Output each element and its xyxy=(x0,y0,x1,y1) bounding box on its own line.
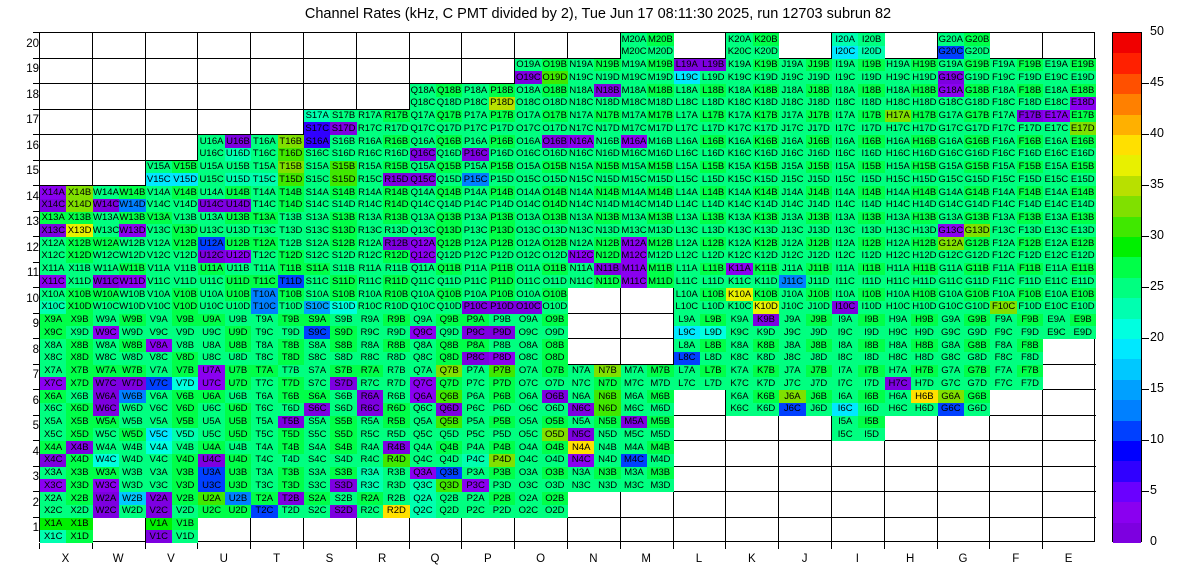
channel-cell[interactable]: H18B xyxy=(911,84,937,97)
channel-cell[interactable]: S15B xyxy=(330,161,356,174)
grid-cell[interactable]: I19AI19BI19CI19D xyxy=(832,59,885,85)
channel-cell[interactable]: Q17C xyxy=(410,122,436,135)
grid-cell[interactable] xyxy=(779,492,832,518)
channel-cell[interactable]: O15B xyxy=(542,161,568,174)
channel-cell[interactable]: J7C xyxy=(779,377,805,390)
grid-cell[interactable]: Q4AQ4BQ4CQ4D xyxy=(410,441,463,467)
channel-cell[interactable]: I12D xyxy=(858,250,884,263)
channel-cell[interactable]: U3B xyxy=(225,467,251,480)
channel-cell[interactable]: V5D xyxy=(172,428,198,441)
grid-cell[interactable]: V2AV2BV2CV2D xyxy=(146,492,199,518)
channel-cell[interactable]: J16A xyxy=(779,135,805,148)
channel-cell[interactable]: V15C xyxy=(146,173,172,186)
channel-cell[interactable]: I20D xyxy=(858,46,884,59)
channel-cell[interactable]: X2B xyxy=(66,492,92,505)
grid-cell[interactable] xyxy=(304,33,357,59)
channel-cell[interactable]: N14C xyxy=(568,199,594,212)
channel-cell[interactable]: O16D xyxy=(542,148,568,161)
channel-cell[interactable]: E17A xyxy=(1043,110,1069,123)
grid-cell[interactable]: W7AW7BW7CW7D xyxy=(93,365,146,391)
channel-cell[interactable]: E10A xyxy=(1043,288,1069,301)
grid-cell[interactable]: E18AE18BE18CE18D xyxy=(1043,84,1096,110)
channel-cell[interactable]: V8A xyxy=(146,339,172,352)
channel-cell[interactable]: L17B xyxy=(700,110,726,123)
channel-cell[interactable]: O2D xyxy=(542,505,568,518)
channel-cell[interactable]: T14D xyxy=(278,199,304,212)
grid-cell[interactable]: P14AP14BP14CP14D xyxy=(462,186,515,212)
channel-cell[interactable]: M19D xyxy=(647,71,673,84)
channel-cell[interactable]: U2B xyxy=(225,492,251,505)
grid-cell[interactable]: W10AW10BW10CW10D xyxy=(93,288,146,314)
channel-cell[interactable]: S11B xyxy=(330,263,356,276)
channel-cell[interactable]: N7C xyxy=(568,377,594,390)
channel-cell[interactable]: L17D xyxy=(700,122,726,135)
channel-cell[interactable]: I15B xyxy=(858,161,884,174)
channel-cell[interactable]: V7C xyxy=(146,377,172,390)
grid-cell[interactable] xyxy=(251,33,304,59)
grid-cell[interactable]: M7AM7BM7CM7D xyxy=(621,365,674,391)
channel-cell[interactable]: K18D xyxy=(753,97,779,110)
channel-cell[interactable]: F19D xyxy=(1017,71,1043,84)
channel-cell[interactable]: K9C xyxy=(726,326,752,339)
channel-cell[interactable]: J11A xyxy=(779,263,805,276)
channel-cell[interactable]: S5A xyxy=(304,416,330,429)
channel-cell[interactable]: N14B xyxy=(594,186,620,199)
grid-cell[interactable]: V10AV10BV10CV10D xyxy=(146,288,199,314)
channel-cell[interactable]: W7C xyxy=(93,377,119,390)
channel-cell[interactable]: O15D xyxy=(542,173,568,186)
grid-cell[interactable]: P8AP8BP8CP8D xyxy=(462,339,515,365)
channel-cell[interactable]: F17B xyxy=(1017,110,1043,123)
channel-cell[interactable]: S2C xyxy=(304,505,330,518)
grid-cell[interactable]: M17AM17BM17CM17D xyxy=(621,110,674,136)
grid-cell[interactable] xyxy=(304,84,357,110)
grid-cell[interactable]: F9AF9BF9CF9D xyxy=(990,314,1043,340)
grid-cell[interactable]: R14AR14BR14CR14D xyxy=(357,186,410,212)
channel-cell[interactable]: P9A xyxy=(462,314,488,327)
channel-cell[interactable]: V5C xyxy=(146,428,172,441)
channel-cell[interactable]: F13B xyxy=(1017,212,1043,225)
grid-cell[interactable] xyxy=(832,518,885,544)
grid-cell[interactable]: Q13AQ13BQ13CQ13D xyxy=(410,212,463,238)
channel-cell[interactable]: V10A xyxy=(146,288,172,301)
channel-cell[interactable]: V12B xyxy=(172,237,198,250)
grid-cell[interactable] xyxy=(198,84,251,110)
grid-cell[interactable]: P12AP12BP12CP12D xyxy=(462,237,515,263)
channel-cell[interactable]: T2C xyxy=(251,505,277,518)
channel-cell[interactable]: P13B xyxy=(489,212,515,225)
channel-cell[interactable]: F12B xyxy=(1017,237,1043,250)
channel-cell[interactable]: N12A xyxy=(568,237,594,250)
channel-cell[interactable]: G7B xyxy=(964,365,990,378)
grid-cell[interactable]: I15AI15BI15CI15D xyxy=(832,161,885,187)
grid-cell[interactable]: I12AI12BI12CI12D xyxy=(832,237,885,263)
channel-cell[interactable]: G8C xyxy=(938,352,964,365)
channel-cell[interactable]: Q16C xyxy=(410,148,436,161)
channel-cell[interactable]: I11A xyxy=(832,263,858,276)
channel-cell[interactable]: F16B xyxy=(1017,135,1043,148)
channel-cell[interactable]: G11D xyxy=(964,275,990,288)
channel-cell[interactable]: U15B xyxy=(225,161,251,174)
grid-cell[interactable]: N16AN16BN16CN16D xyxy=(568,135,621,161)
channel-cell[interactable]: G15D xyxy=(964,173,990,186)
channel-cell[interactable]: G20C xyxy=(938,46,964,59)
channel-cell[interactable]: R10C xyxy=(357,301,383,314)
grid-cell[interactable]: V8AV8BV8CV8D xyxy=(146,339,199,365)
grid-cell[interactable]: O5AO5BO5CO5D xyxy=(515,416,568,442)
channel-cell[interactable]: S11D xyxy=(330,275,356,288)
channel-cell[interactable]: E15A xyxy=(1043,161,1069,174)
channel-cell[interactable]: T2A xyxy=(251,492,277,505)
channel-cell[interactable]: N15B xyxy=(594,161,620,174)
channel-cell[interactable]: T5A xyxy=(251,416,277,429)
channel-cell[interactable]: L17A xyxy=(674,110,700,123)
channel-cell[interactable]: R8B xyxy=(383,339,409,352)
channel-cell[interactable]: G16B xyxy=(964,135,990,148)
channel-cell[interactable]: G9A xyxy=(938,314,964,327)
channel-cell[interactable]: K8B xyxy=(753,339,779,352)
channel-cell[interactable]: Q10C xyxy=(410,301,436,314)
channel-cell[interactable]: U7B xyxy=(225,365,251,378)
channel-cell[interactable]: V14C xyxy=(146,199,172,212)
channel-cell[interactable]: U14D xyxy=(225,199,251,212)
channel-cell[interactable]: W3D xyxy=(119,479,145,492)
channel-cell[interactable]: L9C xyxy=(674,326,700,339)
channel-cell[interactable]: Q16B xyxy=(436,135,462,148)
channel-cell[interactable]: P4D xyxy=(489,454,515,467)
channel-cell[interactable]: E14D xyxy=(1070,199,1096,212)
channel-cell[interactable]: W7A xyxy=(93,365,119,378)
channel-cell[interactable]: N13C xyxy=(568,224,594,237)
channel-cell[interactable]: X12B xyxy=(66,237,92,250)
channel-cell[interactable]: G18C xyxy=(938,97,964,110)
grid-cell[interactable]: S9AS9BS9CS9D xyxy=(304,314,357,340)
channel-cell[interactable]: L7C xyxy=(674,377,700,390)
grid-cell[interactable]: O14AO14BO14CO14D xyxy=(515,186,568,212)
channel-cell[interactable]: O8B xyxy=(542,339,568,352)
channel-cell[interactable]: V3D xyxy=(172,479,198,492)
channel-cell[interactable]: J13C xyxy=(779,224,805,237)
channel-cell[interactable]: P4A xyxy=(462,441,488,454)
channel-cell[interactable]: F8D xyxy=(1017,352,1043,365)
grid-cell[interactable]: E14AE14BE14CE14D xyxy=(1043,186,1096,212)
grid-cell[interactable]: F15AF15BF15CF15D xyxy=(990,161,1043,187)
grid-cell[interactable]: G13AG13BG13CG13D xyxy=(938,212,991,238)
grid-cell[interactable]: L13AL13BL13CL13D xyxy=(674,212,727,238)
grid-cell[interactable]: E10AE10BE10CE10D xyxy=(1043,288,1096,314)
channel-cell[interactable]: P13D xyxy=(489,224,515,237)
channel-cell[interactable]: G9D xyxy=(964,326,990,339)
channel-cell[interactable]: F19A xyxy=(990,59,1016,72)
grid-cell[interactable]: K8AK8BK8CK8D xyxy=(726,339,779,365)
channel-cell[interactable]: N3C xyxy=(568,479,594,492)
channel-cell[interactable]: P4C xyxy=(462,454,488,467)
channel-cell[interactable]: P14C xyxy=(462,199,488,212)
grid-cell[interactable] xyxy=(674,416,727,442)
channel-cell[interactable]: V2D xyxy=(172,505,198,518)
channel-cell[interactable]: J10B xyxy=(806,288,832,301)
channel-cell[interactable]: P6C xyxy=(462,403,488,416)
channel-cell[interactable]: L12B xyxy=(700,237,726,250)
channel-cell[interactable]: Q4C xyxy=(410,454,436,467)
channel-cell[interactable]: X14C xyxy=(40,199,66,212)
channel-cell[interactable]: O4A xyxy=(515,441,541,454)
channel-cell[interactable]: P11C xyxy=(462,275,488,288)
channel-cell[interactable]: T13A xyxy=(251,212,277,225)
channel-cell[interactable]: W12D xyxy=(119,250,145,263)
channel-cell[interactable]: O17A xyxy=(515,110,541,123)
channel-cell[interactable]: P2A xyxy=(462,492,488,505)
channel-cell[interactable]: R7A xyxy=(357,365,383,378)
grid-cell[interactable] xyxy=(357,518,410,544)
channel-cell[interactable]: V1B xyxy=(172,518,198,531)
channel-cell[interactable]: I14B xyxy=(858,186,884,199)
channel-cell[interactable]: U6C xyxy=(198,403,224,416)
channel-cell[interactable]: P10A xyxy=(462,288,488,301)
channel-cell[interactable]: L14D xyxy=(700,199,726,212)
channel-cell[interactable]: E9D xyxy=(1070,326,1096,339)
channel-cell[interactable]: P10B xyxy=(489,288,515,301)
grid-cell[interactable]: H15AH15BH15CH15D xyxy=(885,161,938,187)
channel-cell[interactable]: L15B xyxy=(700,161,726,174)
channel-cell[interactable]: K9B xyxy=(753,314,779,327)
channel-cell[interactable]: O13B xyxy=(542,212,568,225)
grid-cell[interactable]: F17AF17BF17CF17D xyxy=(990,110,1043,136)
channel-cell[interactable]: T12B xyxy=(278,237,304,250)
channel-cell[interactable]: V14D xyxy=(172,199,198,212)
channel-cell[interactable]: Q8D xyxy=(436,352,462,365)
channel-cell[interactable]: O5B xyxy=(542,416,568,429)
channel-cell[interactable]: M3A xyxy=(621,467,647,480)
channel-cell[interactable]: Q14D xyxy=(436,199,462,212)
channel-cell[interactable]: J12A xyxy=(779,237,805,250)
channel-cell[interactable]: I5A xyxy=(832,416,858,429)
channel-cell[interactable]: I15D xyxy=(858,173,884,186)
grid-cell[interactable] xyxy=(1043,365,1096,391)
grid-cell[interactable]: I14AI14BI14CI14D xyxy=(832,186,885,212)
grid-cell[interactable] xyxy=(146,135,199,161)
channel-cell[interactable]: S9C xyxy=(304,326,330,339)
grid-cell[interactable]: Q16AQ16BQ16CQ16D xyxy=(410,135,463,161)
grid-cell[interactable]: G15AG15BG15CG15D xyxy=(938,161,991,187)
channel-cell[interactable]: T10A xyxy=(251,288,277,301)
channel-cell[interactable]: T4B xyxy=(278,441,304,454)
channel-cell[interactable]: M20A xyxy=(621,33,647,46)
channel-cell[interactable]: V12D xyxy=(172,250,198,263)
channel-cell[interactable]: J17D xyxy=(806,122,832,135)
channel-cell[interactable]: P17A xyxy=(462,110,488,123)
channel-cell[interactable]: Q15B xyxy=(436,161,462,174)
grid-cell[interactable]: S10AS10BS10CS10D xyxy=(304,288,357,314)
channel-cell[interactable]: J10D xyxy=(806,301,832,314)
channel-cell[interactable]: N14A xyxy=(568,186,594,199)
channel-cell[interactable]: Q7D xyxy=(436,377,462,390)
channel-cell[interactable]: Q4B xyxy=(436,441,462,454)
channel-cell[interactable]: V10C xyxy=(146,301,172,314)
channel-cell[interactable]: N6A xyxy=(568,390,594,403)
grid-cell[interactable]: H10AH10BH10CH10D xyxy=(885,288,938,314)
channel-cell[interactable]: K19A xyxy=(726,59,752,72)
channel-cell[interactable]: F9A xyxy=(990,314,1016,327)
channel-cell[interactable]: Q5C xyxy=(410,428,436,441)
channel-cell[interactable]: F7A xyxy=(990,365,1016,378)
channel-cell[interactable]: K14B xyxy=(753,186,779,199)
channel-cell[interactable]: W9A xyxy=(93,314,119,327)
channel-cell[interactable]: R13D xyxy=(383,224,409,237)
channel-cell[interactable]: R2C xyxy=(357,505,383,518)
channel-cell[interactable]: R6A xyxy=(357,390,383,403)
channel-cell[interactable]: I11C xyxy=(832,275,858,288)
channel-cell[interactable]: V12A xyxy=(146,237,172,250)
channel-cell[interactable]: I7B xyxy=(858,365,884,378)
grid-cell[interactable] xyxy=(938,467,991,493)
grid-cell[interactable]: T16AT16BT16CT16D xyxy=(251,135,304,161)
channel-cell[interactable]: L13A xyxy=(674,212,700,225)
channel-cell[interactable]: S4C xyxy=(304,454,330,467)
grid-cell[interactable] xyxy=(1043,518,1096,544)
channel-cell[interactable]: F8A xyxy=(990,339,1016,352)
grid-cell[interactable]: V9AV9BV9CV9D xyxy=(146,314,199,340)
grid-cell[interactable]: T12AT12BT12CT12D xyxy=(251,237,304,263)
channel-cell[interactable]: N13D xyxy=(594,224,620,237)
channel-cell[interactable]: O3C xyxy=(515,479,541,492)
grid-cell[interactable]: T2AT2BT2CT2D xyxy=(251,492,304,518)
channel-cell[interactable]: W3A xyxy=(93,467,119,480)
channel-cell[interactable]: J8D xyxy=(806,352,832,365)
grid-cell[interactable]: G16AG16BG16CG16D xyxy=(938,135,991,161)
channel-cell[interactable]: E16A xyxy=(1043,135,1069,148)
grid-cell[interactable] xyxy=(1043,492,1096,518)
channel-cell[interactable]: P18B xyxy=(489,84,515,97)
channel-cell[interactable]: V14A xyxy=(146,186,172,199)
grid-cell[interactable]: P5AP5BP5CP5D xyxy=(462,416,515,442)
channel-cell[interactable]: J11B xyxy=(806,263,832,276)
channel-cell[interactable]: K11A xyxy=(726,263,752,276)
channel-cell[interactable]: T3D xyxy=(278,479,304,492)
channel-cell[interactable]: H6B xyxy=(911,390,937,403)
channel-cell[interactable]: Q5D xyxy=(436,428,462,441)
channel-cell[interactable]: T15C xyxy=(251,173,277,186)
channel-cell[interactable]: L11A xyxy=(674,263,700,276)
channel-cell[interactable]: F15A xyxy=(990,161,1016,174)
grid-cell[interactable]: H7AH7BH7CH7D xyxy=(885,365,938,391)
grid-cell[interactable] xyxy=(93,161,146,187)
grid-cell[interactable]: K20AK20BK20CK20D xyxy=(726,33,779,59)
channel-cell[interactable]: Q14A xyxy=(410,186,436,199)
channel-cell[interactable]: X14D xyxy=(66,199,92,212)
channel-cell[interactable]: F11D xyxy=(1017,275,1043,288)
channel-cell[interactable]: F10B xyxy=(1017,288,1043,301)
channel-cell[interactable]: O13A xyxy=(515,212,541,225)
channel-cell[interactable]: H7B xyxy=(911,365,937,378)
channel-cell[interactable]: X7B xyxy=(66,365,92,378)
grid-cell[interactable]: K16AK16BK16CK16D xyxy=(726,135,779,161)
grid-cell[interactable]: K9AK9BK9CK9D xyxy=(726,314,779,340)
grid-cell[interactable]: P18AP18BP18CP18D xyxy=(462,84,515,110)
channel-cell[interactable]: U9C xyxy=(198,326,224,339)
channel-cell[interactable]: T13B xyxy=(278,212,304,225)
grid-cell[interactable] xyxy=(1043,467,1096,493)
channel-cell[interactable]: S8C xyxy=(304,352,330,365)
channel-cell[interactable]: V1D xyxy=(172,530,198,543)
grid-cell[interactable]: P15AP15BP15CP15D xyxy=(462,161,515,187)
channel-cell[interactable]: L16C xyxy=(674,148,700,161)
grid-cell[interactable] xyxy=(251,110,304,136)
channel-cell[interactable]: K18C xyxy=(726,97,752,110)
grid-cell[interactable]: P6AP6BP6CP6D xyxy=(462,390,515,416)
channel-cell[interactable]: G7C xyxy=(938,377,964,390)
channel-cell[interactable]: I17B xyxy=(858,110,884,123)
channel-cell[interactable]: E11D xyxy=(1070,275,1096,288)
channel-cell[interactable]: S6D xyxy=(330,403,356,416)
channel-cell[interactable]: P12C xyxy=(462,250,488,263)
channel-cell[interactable]: G9B xyxy=(964,314,990,327)
channel-cell[interactable]: V13D xyxy=(172,224,198,237)
channel-cell[interactable]: F16D xyxy=(1017,148,1043,161)
channel-cell[interactable]: G13B xyxy=(964,212,990,225)
channel-cell[interactable]: J18A xyxy=(779,84,805,97)
channel-cell[interactable]: R9C xyxy=(357,326,383,339)
channel-cell[interactable]: I10D xyxy=(858,301,884,314)
channel-cell[interactable]: E19C xyxy=(1043,71,1069,84)
channel-cell[interactable]: H6A xyxy=(885,390,911,403)
channel-cell[interactable]: J14C xyxy=(779,199,805,212)
channel-cell[interactable]: T7B xyxy=(278,365,304,378)
grid-cell[interactable]: T13AT13BT13CT13D xyxy=(251,212,304,238)
grid-cell[interactable] xyxy=(198,59,251,85)
channel-cell[interactable]: P17C xyxy=(462,122,488,135)
channel-cell[interactable]: U10A xyxy=(198,288,224,301)
channel-cell[interactable]: U2C xyxy=(198,505,224,518)
channel-cell[interactable]: J19A xyxy=(779,59,805,72)
grid-cell[interactable]: X12AX12BX12CX12D xyxy=(40,237,93,263)
grid-cell[interactable]: G12AG12BG12CG12D xyxy=(938,237,991,263)
grid-cell[interactable]: M12AM12BM12CM12D xyxy=(621,237,674,263)
channel-cell[interactable]: R15A xyxy=(357,161,383,174)
channel-cell[interactable]: J7D xyxy=(806,377,832,390)
channel-cell[interactable]: X11B xyxy=(66,263,92,276)
channel-cell[interactable]: N5D xyxy=(594,428,620,441)
channel-cell[interactable]: G12B xyxy=(964,237,990,250)
channel-cell[interactable]: I19D xyxy=(858,71,884,84)
grid-cell[interactable]: J12AJ12BJ12CJ12D xyxy=(779,237,832,263)
channel-cell[interactable]: R7B xyxy=(383,365,409,378)
grid-cell[interactable] xyxy=(621,314,674,340)
channel-cell[interactable]: V6B xyxy=(172,390,198,403)
grid-cell[interactable]: W9AW9BW9CW9D xyxy=(93,314,146,340)
channel-cell[interactable]: V6C xyxy=(146,403,172,416)
channel-cell[interactable]: J9A xyxy=(779,314,805,327)
grid-cell[interactable]: Q14AQ14BQ14CQ14D xyxy=(410,186,463,212)
channel-cell[interactable]: V10D xyxy=(172,301,198,314)
channel-cell[interactable]: I9D xyxy=(858,326,884,339)
channel-cell[interactable]: T15D xyxy=(278,173,304,186)
channel-cell[interactable]: X3B xyxy=(66,467,92,480)
channel-cell[interactable]: K16B xyxy=(753,135,779,148)
channel-cell[interactable]: H17D xyxy=(911,122,937,135)
channel-cell[interactable]: U8A xyxy=(198,339,224,352)
grid-cell[interactable]: F16AF16BF16CF16D xyxy=(990,135,1043,161)
channel-cell[interactable]: X13B xyxy=(66,212,92,225)
grid-cell[interactable]: F8AF8BF8CF8D xyxy=(990,339,1043,365)
channel-cell[interactable]: K12D xyxy=(753,250,779,263)
grid-cell[interactable]: G7AG7BG7CG7D xyxy=(938,365,991,391)
grid-cell[interactable]: O8AO8BO8CO8D xyxy=(515,339,568,365)
grid-cell[interactable]: O9AO9BO9CO9D xyxy=(515,314,568,340)
channel-cell[interactable]: O6A xyxy=(515,390,541,403)
channel-cell[interactable]: G17B xyxy=(964,110,990,123)
channel-cell[interactable]: P18A xyxy=(462,84,488,97)
